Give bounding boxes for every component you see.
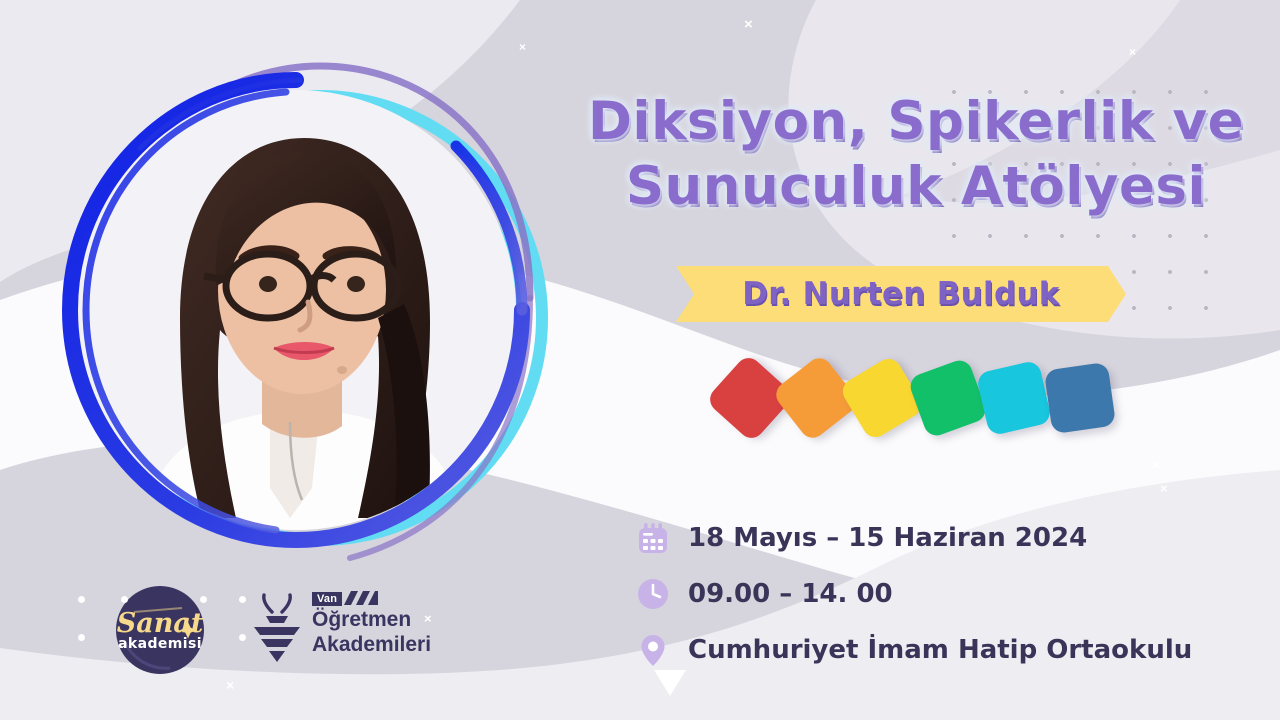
event-poster: Diksiyon, Spikerlik ve Sunuculuk Atölyes…	[0, 0, 1280, 720]
van-badge-stripes	[344, 591, 378, 605]
bottom-triangle-decoration	[654, 670, 686, 696]
x-mark-decoration: ×	[744, 17, 753, 32]
event-time: 09.00 – 14. 00	[688, 579, 893, 609]
speaker-name-ribbon: Dr. Nurten Bulduk	[676, 266, 1126, 322]
white-dot-decoration	[239, 596, 246, 603]
white-dot-decoration	[78, 634, 85, 641]
sanat-sub: akademisi	[118, 636, 202, 652]
event-date-row: 18 Mayıs – 15 Haziran 2024	[636, 512, 1236, 564]
diamond-yellow	[838, 354, 926, 442]
x-mark-decoration: ×	[519, 41, 526, 53]
event-date: 18 Mayıs – 15 Haziran 2024	[688, 523, 1087, 553]
x-mark-decoration: ×	[226, 678, 234, 692]
speaker-portrait	[0, 18, 570, 578]
white-dot-decoration	[239, 634, 246, 641]
x-mark-decoration: ×	[424, 612, 432, 625]
event-location-row: Cumhuriyet İmam Hatip Ortaokulu	[636, 624, 1236, 676]
van-line-1: Öğretmen	[312, 608, 411, 632]
white-dot-decoration	[78, 596, 85, 603]
diamond-blue	[1044, 362, 1116, 434]
diamond-decoration-row	[718, 352, 1118, 454]
x-mark-decoration: ×	[1160, 482, 1168, 495]
event-location: Cumhuriyet İmam Hatip Ortaokulu	[688, 635, 1192, 665]
diamond-cyan	[976, 360, 1053, 437]
sanat-script: Sanat	[117, 608, 204, 639]
event-details: 18 Mayıs – 15 Haziran 2024 09.00 – 14. 0…	[636, 512, 1236, 680]
bee-icon	[248, 592, 306, 664]
van-ogretmen-akademileri-logo: Van Öğretmen Akademileri	[248, 592, 428, 664]
x-mark-decoration: ×	[1129, 46, 1136, 58]
clock-icon	[636, 577, 670, 611]
white-dot-decoration	[200, 596, 207, 603]
title-line-2: Sunuculuk Atölyesi	[586, 155, 1246, 220]
event-time-row: 09.00 – 14. 00	[636, 568, 1236, 620]
calendar-icon	[636, 521, 670, 555]
diamond-green	[907, 357, 989, 439]
poster-title: Diksiyon, Spikerlik ve Sunuculuk Atölyes…	[586, 90, 1246, 219]
location-pin-icon	[636, 633, 670, 667]
van-line-2: Akademileri	[312, 633, 431, 657]
title-line-1: Diksiyon, Spikerlik ve	[588, 91, 1244, 152]
white-dot-decoration	[121, 596, 128, 603]
van-badge: Van	[312, 592, 342, 606]
x-mark-decoration: ×	[1152, 458, 1160, 471]
speaker-name: Dr. Nurten Bulduk	[742, 276, 1059, 312]
